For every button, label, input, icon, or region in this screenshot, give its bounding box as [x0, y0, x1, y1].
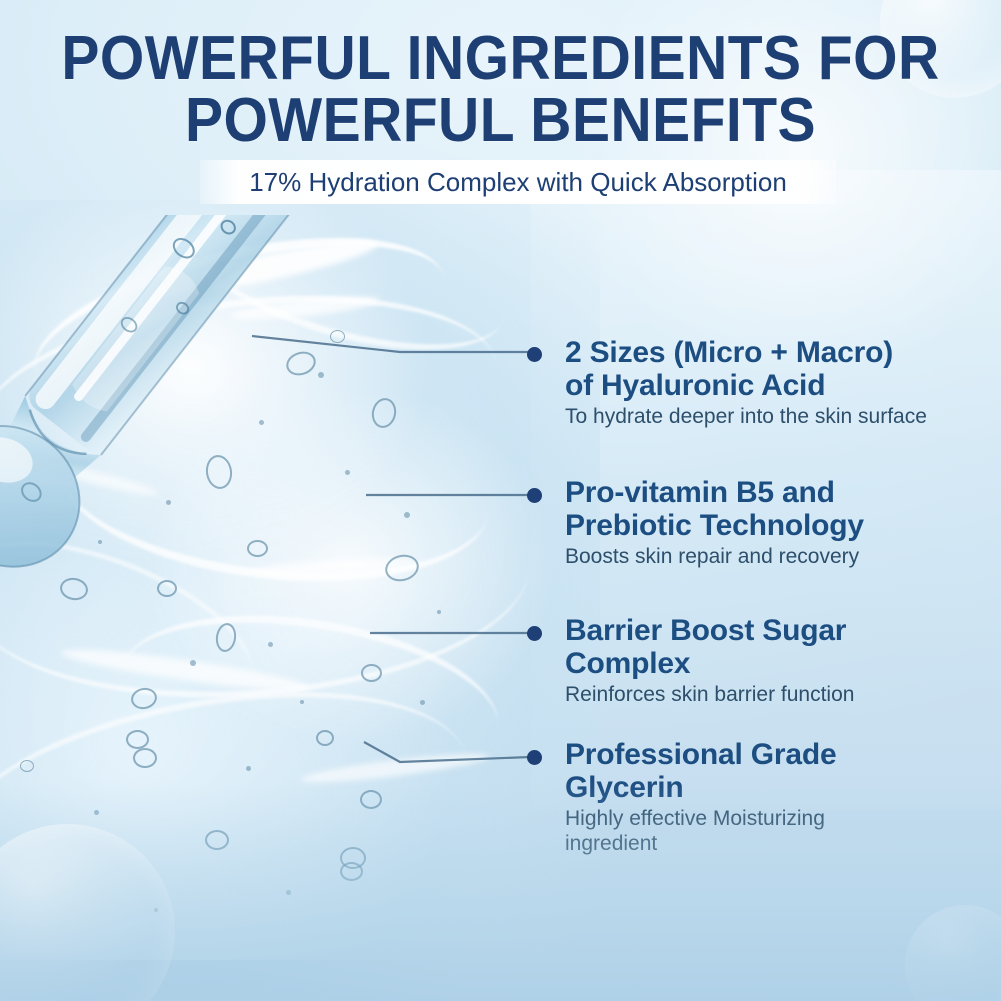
bullet-dot-1	[527, 347, 542, 362]
page-title: POWERFUL INGREDIENTS FOR POWERFUL BENEFI…	[40, 28, 961, 152]
callout-title-line-2: Complex	[565, 647, 690, 680]
infographic-canvas: POWERFUL INGREDIENTS FOR POWERFUL BENEFI…	[0, 0, 1001, 1001]
callout-title: 2 Sizes (Micro + Macro) of Hyaluronic Ac…	[565, 336, 927, 402]
callout-title: Barrier Boost Sugar Complex	[565, 614, 854, 680]
callout-title-line-2: of Hyaluronic Acid	[565, 369, 825, 402]
bullet-dot-2	[527, 488, 542, 503]
callout-title-line-2: Prebiotic Technology	[565, 509, 864, 542]
subtitle-text: 17% Hydration Complex with Quick Absorpt…	[249, 167, 787, 198]
bubble-dot	[345, 470, 350, 475]
bullet-dot-4	[527, 750, 542, 765]
bullet-dot-3	[527, 626, 542, 641]
callout-title-line-1: Professional Grade	[565, 738, 837, 771]
callout-description: Reinforces skin barrier function	[565, 682, 854, 707]
bubble-dot	[190, 660, 196, 666]
headline-line-2: POWERFUL BENEFITS	[40, 90, 961, 152]
background-bottom-band	[0, 781, 1001, 1001]
bubble-icon	[316, 730, 334, 746]
callout-title-line-1: 2 Sizes (Micro + Macro)	[565, 336, 893, 369]
callout-title-line-1: Barrier Boost Sugar	[565, 614, 846, 647]
bubble-dot	[420, 700, 425, 705]
bubble-icon	[126, 730, 149, 749]
ingredient-callout-3: Barrier Boost Sugar Complex Reinforces s…	[565, 614, 854, 707]
bubble-icon	[133, 748, 157, 768]
ingredient-callout-2: Pro-vitamin B5 and Prebiotic Technology …	[565, 476, 864, 569]
bubble-dot	[437, 610, 441, 614]
bubble-dot	[300, 700, 304, 704]
dropper-pipette-illustration	[0, 215, 330, 645]
bubble-dot	[404, 512, 410, 518]
callout-description: Boosts skin repair and recovery	[565, 544, 864, 569]
bubble-icon	[330, 330, 345, 343]
headline-line-1: POWERFUL INGREDIENTS FOR	[61, 24, 939, 93]
callout-description: To hydrate deeper into the skin surface	[565, 404, 927, 429]
callout-title-line-1: Pro-vitamin B5 and	[565, 476, 835, 509]
ingredient-callout-1: 2 Sizes (Micro + Macro) of Hyaluronic Ac…	[565, 336, 927, 429]
bubble-icon	[361, 664, 382, 682]
subtitle-banner: 17% Hydration Complex with Quick Absorpt…	[200, 160, 836, 204]
bubble-dot	[246, 766, 251, 771]
callout-title: Pro-vitamin B5 and Prebiotic Technology	[565, 476, 864, 542]
bubble-icon	[20, 760, 34, 772]
